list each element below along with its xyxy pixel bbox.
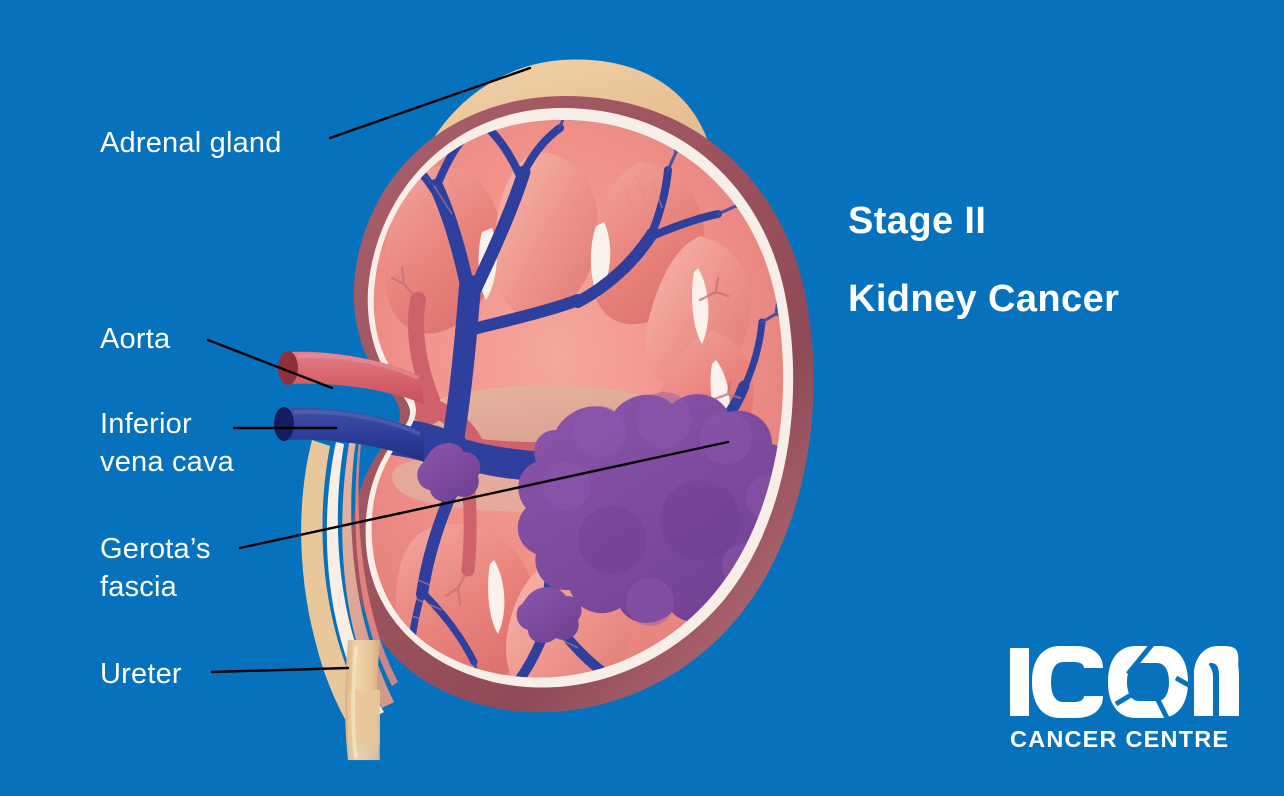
icon-wordmark-icon [1008,642,1240,722]
ureter-part [345,640,380,762]
poster-canvas: Adrenal gland Aorta Inferior vena cava G… [0,0,1284,796]
vena-cava-lumen-part [274,407,294,441]
label-gerotas-fascia: Gerota’s fascia [100,530,211,606]
label-adrenal-gland: Adrenal gland [100,124,282,162]
label-aorta: Aorta [100,320,170,358]
logo-tagline: CANCER CENTRE [1010,726,1229,753]
label-inferior-vena-cava: Inferior vena cava [100,405,234,481]
page-title-line-1: Stage II [848,182,1119,260]
label-ureter: Ureter [100,655,182,693]
icon-cancer-centre-logo: CANCER CENTRE [1008,642,1240,758]
page-title-line-2: Kidney Cancer [848,260,1119,338]
page-title: Stage II Kidney Cancer [848,182,1119,338]
